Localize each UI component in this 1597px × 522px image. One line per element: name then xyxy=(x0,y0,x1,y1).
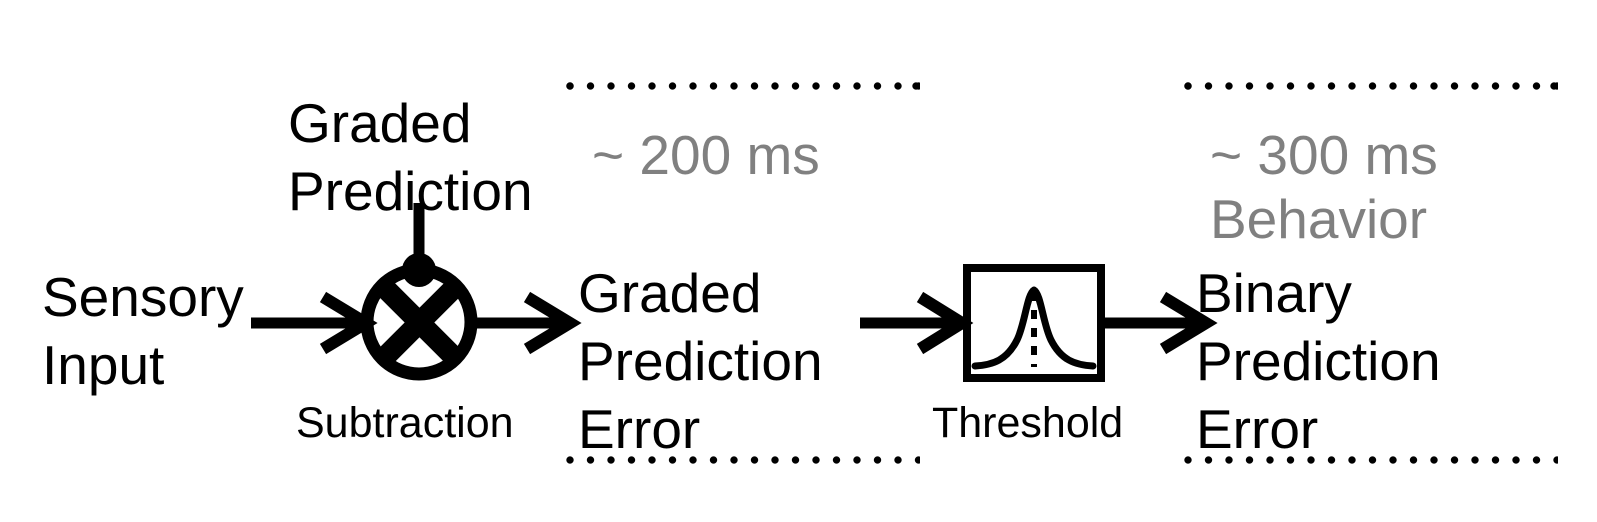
arrow-subtraction-to-graded-error xyxy=(470,297,570,349)
binary-error-line2: Prediction xyxy=(1196,326,1441,396)
graded-prediction-label-line2: Prediction xyxy=(288,156,533,226)
dotted-border-right xyxy=(1550,82,1558,464)
behavior-label: Behavior xyxy=(1210,184,1427,254)
threshold-label: Threshold xyxy=(932,398,1123,448)
graded-prediction-label-line1: Graded xyxy=(288,88,471,158)
binary-error-line3: Error xyxy=(1196,394,1318,464)
dotted-border-left xyxy=(1184,82,1192,464)
latency-label-graded-error: ~ 200 ms xyxy=(592,120,820,190)
binary-error-line1: Binary xyxy=(1196,258,1352,328)
arrow-sensory-to-subtraction xyxy=(251,297,372,349)
graded-error-line3: Error xyxy=(578,394,700,464)
latency-label-binary-error: ~ 300 ms xyxy=(1210,120,1438,190)
dotted-border-right xyxy=(912,82,920,464)
bell-curve-icon xyxy=(971,272,1097,374)
graded-error-line1: Graded xyxy=(578,258,761,328)
subtraction-symbol-icon xyxy=(367,270,471,374)
sensory-input-label-line1: Sensory xyxy=(42,262,244,332)
graded-error-line2: Prediction xyxy=(578,326,823,396)
sensory-input-label-line2: Input xyxy=(42,330,164,400)
dotted-border-left xyxy=(566,82,574,464)
threshold-node[interactable] xyxy=(963,264,1105,382)
dotted-border-top xyxy=(566,82,920,90)
dotted-border-top xyxy=(1184,82,1558,90)
diagram-canvas: Sensory Input Graded Prediction Subtract… xyxy=(0,0,1597,522)
subtraction-label: Subtraction xyxy=(296,398,514,448)
